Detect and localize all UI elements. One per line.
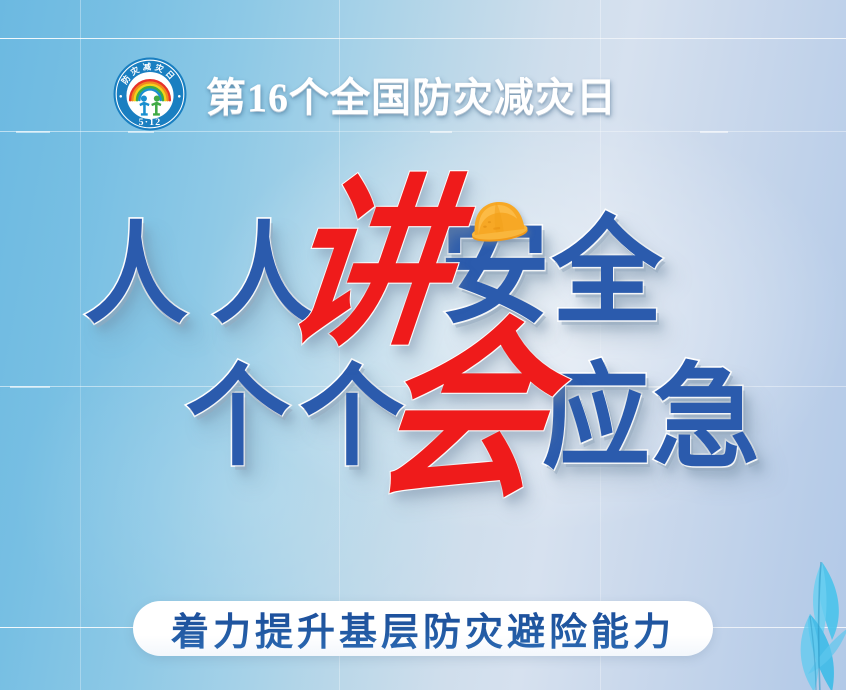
- bottom-banner-text: 着力提升基层防灾避险能力: [171, 601, 675, 656]
- svg-text:5·12: 5·12: [139, 117, 162, 128]
- poster-canvas: 防灾减灾日: [0, 0, 846, 690]
- page-title: 第16个全国防灾减灾日: [206, 65, 617, 123]
- slogan-char-ren-1: 人: [84, 221, 188, 331]
- poster-header: 防灾减灾日: [112, 56, 617, 132]
- slogan-char-ji: 急: [652, 361, 760, 475]
- slogan-char-hui: 会: [366, 318, 558, 510]
- bottom-banner: 着力提升基层防灾避险能力: [133, 601, 713, 656]
- disaster-prevention-emblem-icon: 防灾减灾日: [112, 56, 188, 132]
- slogan-char-ying: 应: [542, 361, 650, 475]
- slogan-char-ge-1: 个: [186, 363, 290, 473]
- safety-helmet-icon: [468, 196, 530, 244]
- slogan-char-quan: 全: [552, 215, 662, 332]
